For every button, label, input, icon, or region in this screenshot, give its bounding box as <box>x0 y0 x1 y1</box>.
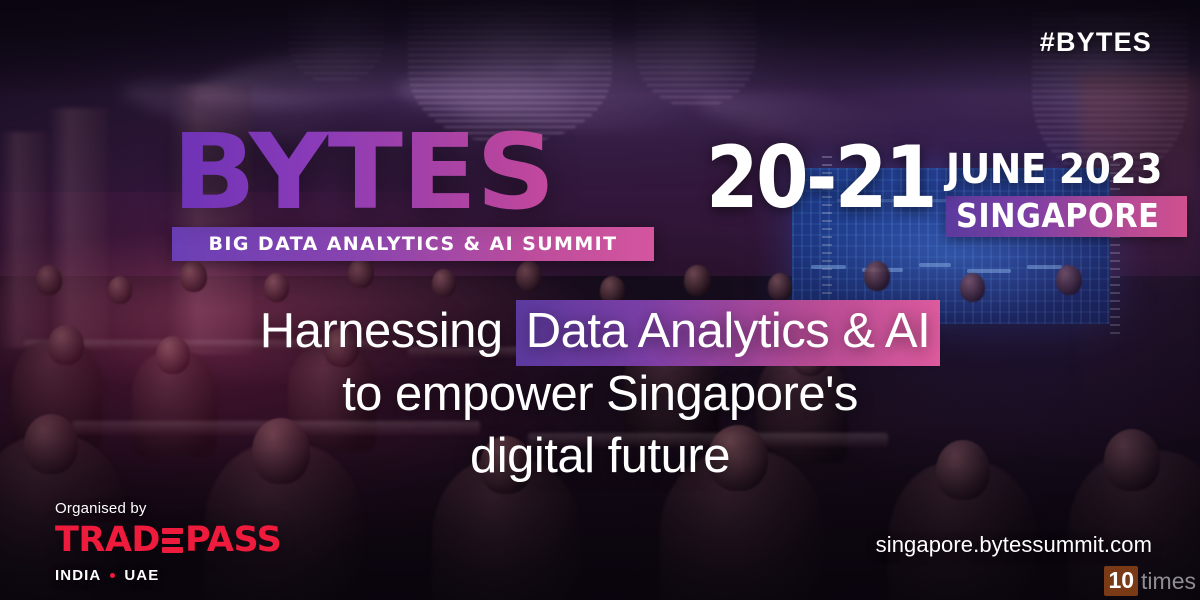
organiser-block: Organised by TRAD PASS INDIA UAE <box>55 500 281 584</box>
organiser-regions: INDIA UAE <box>55 567 281 584</box>
headline-line-3: digital future <box>0 425 1200 488</box>
headline-plain-text: Harnessing <box>260 304 516 358</box>
organiser-name-part-1: TRAD <box>55 523 160 558</box>
organiser-name-part-2: PASS <box>185 523 281 558</box>
event-banner: #BYTES BYTES BIG DATA ANALYTICS & AI SUM… <box>0 0 1200 600</box>
event-headline: Harnessing Data Analytics & AI to empowe… <box>0 300 1200 488</box>
event-month-year: JUNE 2023 <box>946 149 1168 190</box>
organiser-region-uae: UAE <box>124 567 159 584</box>
headline-line-1: Harnessing Data Analytics & AI <box>0 300 1200 363</box>
event-date-block: 20-21 JUNE 2023 SINGAPORE <box>706 143 1187 237</box>
event-dates: 20-21 <box>706 143 935 214</box>
organiser-region-india: INDIA <box>55 567 101 584</box>
tradepass-e-glyph-icon <box>162 528 183 553</box>
event-tagline: BIG DATA ANALYTICS & AI SUMMIT <box>209 233 618 255</box>
watermark-number: 10 <box>1104 566 1138 596</box>
event-hashtag: #BYTES <box>1040 27 1152 58</box>
separator-dot-icon <box>110 573 115 578</box>
event-logo-wordmark: BYTES <box>172 128 683 217</box>
tentimes-watermark: 10 times <box>1104 566 1196 596</box>
event-date-details: JUNE 2023 SINGAPORE <box>946 143 1187 237</box>
watermark-word: times <box>1138 570 1196 593</box>
headline-line-2: to empower Singapore's <box>0 363 1200 426</box>
event-city: SINGAPORE <box>956 199 1159 232</box>
event-website-url[interactable]: singapore.bytessummit.com <box>876 532 1152 558</box>
organiser-logo-tradepass: TRAD PASS <box>55 523 281 558</box>
organiser-label: Organised by <box>55 500 281 517</box>
event-city-bar: SINGAPORE <box>946 196 1187 237</box>
headline-highlight: Data Analytics & AI <box>516 300 941 366</box>
event-logo: BYTES BIG DATA ANALYTICS & AI SUMMIT <box>172 128 654 261</box>
banner-content: #BYTES BYTES BIG DATA ANALYTICS & AI SUM… <box>0 0 1200 600</box>
